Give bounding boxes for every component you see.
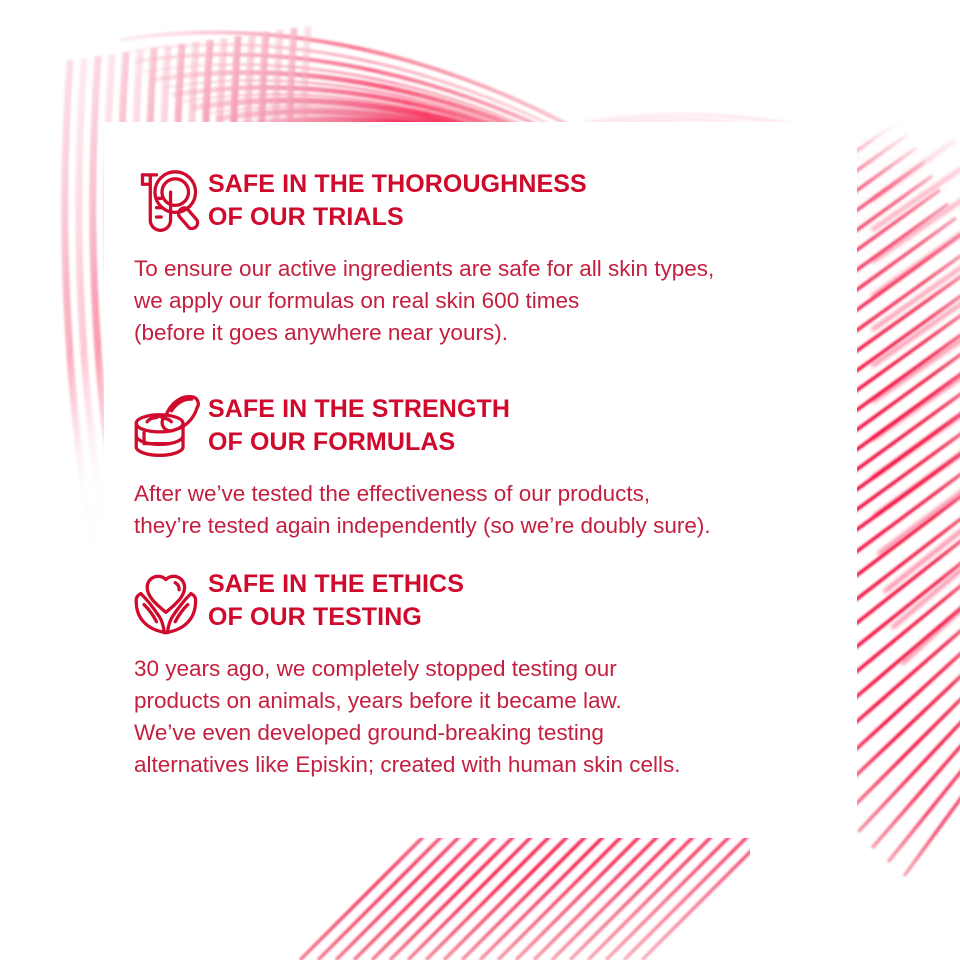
heading-line: SAFE IN THE THOROUGHNESS	[208, 168, 587, 201]
body-line: To ensure our active ingredients are saf…	[134, 253, 851, 285]
content-card: SAFE IN THE THOROUGHNESS OF OUR TRIALS T…	[104, 122, 857, 838]
benefit-heading: SAFE IN THE STRENGTH OF OUR FORMULAS	[208, 387, 510, 459]
benefit-body: After we’ve tested the effectiveness of …	[104, 478, 857, 542]
body-line: they’re tested again independently (so w…	[134, 510, 851, 542]
body-line: We’ve even developed ground-breaking tes…	[134, 717, 851, 749]
benefit-body: 30 years ago, we completely stopped test…	[104, 653, 857, 781]
body-line: After we’ve tested the effectiveness of …	[134, 478, 851, 510]
heading-line: OF OUR FORMULAS	[208, 426, 510, 459]
body-line: (before it goes anywhere near yours).	[134, 317, 851, 349]
heading-line: OF OUR TESTING	[208, 601, 464, 634]
body-line: alternatives like Episkin; created with …	[134, 749, 851, 781]
heart-in-hands-icon	[104, 562, 208, 644]
poster-canvas: SAFE IN THE THOROUGHNESS OF OUR TRIALS T…	[0, 0, 960, 960]
heading-line: OF OUR TRIALS	[208, 201, 587, 234]
heading-line: SAFE IN THE ETHICS	[208, 568, 464, 601]
benefit-heading: SAFE IN THE ETHICS OF OUR TESTING	[208, 562, 464, 634]
benefit-section-header: SAFE IN THE ETHICS OF OUR TESTING	[104, 562, 857, 644]
body-line: 30 years ago, we completely stopped test…	[134, 653, 851, 685]
body-line: products on animals, years before it bec…	[134, 685, 851, 717]
benefit-section-header: SAFE IN THE STRENGTH OF OUR FORMULAS	[104, 387, 857, 469]
benefit-section-ethics: SAFE IN THE ETHICS OF OUR TESTING 30 yea…	[104, 562, 857, 781]
heading-line: SAFE IN THE STRENGTH	[208, 393, 510, 426]
cream-jar-open-lid-icon	[104, 387, 208, 469]
body-line: we apply our formulas on real skin 600 t…	[134, 285, 851, 317]
benefit-section-trials: SAFE IN THE THOROUGHNESS OF OUR TRIALS T…	[104, 162, 857, 349]
test-tube-magnifier-icon	[104, 162, 208, 244]
benefit-body: To ensure our active ingredients are saf…	[104, 253, 857, 349]
benefit-section-header: SAFE IN THE THOROUGHNESS OF OUR TRIALS	[104, 162, 857, 244]
benefit-section-formulas: SAFE IN THE STRENGTH OF OUR FORMULAS Aft…	[104, 387, 857, 542]
benefit-heading: SAFE IN THE THOROUGHNESS OF OUR TRIALS	[208, 162, 587, 234]
